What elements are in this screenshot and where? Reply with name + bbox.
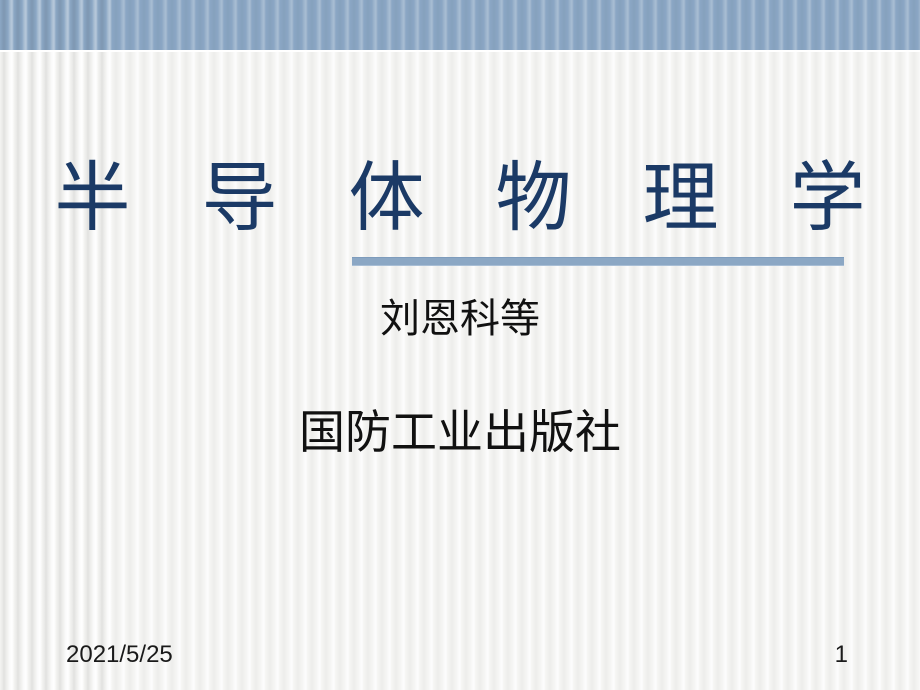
header-accent-band-left-shade: [0, 0, 112, 50]
publisher-line: 国防工业出版社: [0, 406, 920, 460]
striped-background: [0, 0, 920, 690]
slide-title: 半 导 体 物 理 学: [0, 158, 920, 240]
title-underline-bar: [352, 257, 844, 266]
footer-date: 2021/5/25: [66, 640, 173, 670]
header-divider-rule: [0, 50, 920, 52]
presentation-slide: 半 导 体 物 理 学 刘恩科等 国防工业出版社 2021/5/25 1: [0, 0, 920, 690]
footer-page-number: 1: [835, 640, 848, 670]
striped-background-left-band: [0, 0, 112, 690]
author-line: 刘恩科等: [0, 295, 920, 343]
header-accent-band: [0, 0, 920, 50]
